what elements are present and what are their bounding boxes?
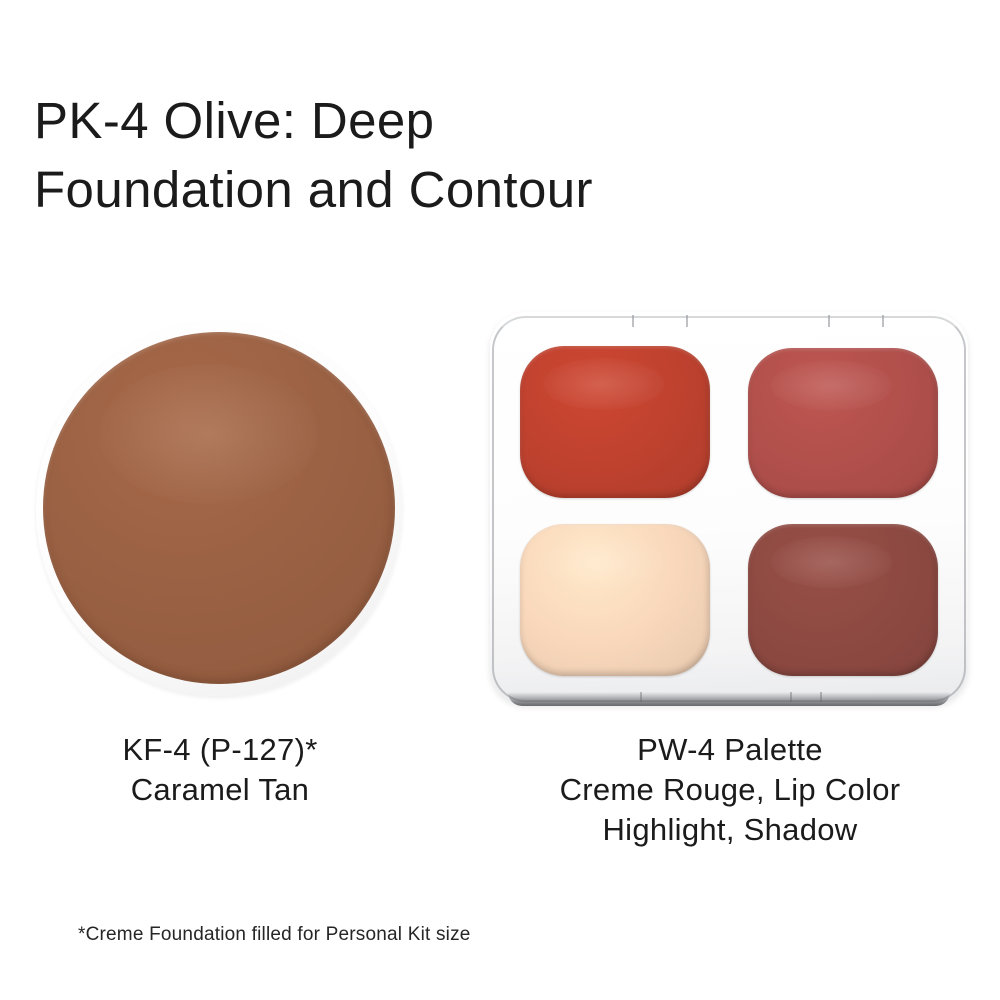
page-title: PK-4 Olive: Deep Foundation and Contour	[34, 86, 934, 224]
palette-hinge-notch	[632, 315, 634, 327]
pan-gloss	[771, 360, 893, 411]
foundation-caption-line-2: Caramel Tan	[30, 770, 410, 810]
palette-pan-creme-rouge	[520, 346, 710, 498]
palette-pan-lip-color	[748, 348, 938, 498]
palette-pan-highlight	[520, 524, 710, 676]
palette-pan-grid	[520, 346, 938, 676]
pan-gloss	[543, 536, 665, 588]
palette-caption: PW-4 Palette Creme Rouge, Lip Color High…	[480, 730, 980, 850]
foundation-product-image	[36, 322, 402, 696]
foundation-pan-caramel-tan	[43, 332, 395, 684]
palette-hinge-notch	[828, 315, 830, 327]
palette-hinge-notch	[882, 315, 884, 327]
page-title-line-1: PK-4 Olive: Deep	[34, 86, 934, 155]
foundation-sheen	[99, 364, 317, 505]
palette-hinge-notch	[686, 315, 688, 327]
palette-caption-line-2: Creme Rouge, Lip Color	[480, 770, 980, 810]
palette-base-notch	[820, 692, 822, 702]
palette-base-notch	[790, 692, 792, 702]
pan-gloss	[543, 358, 665, 410]
palette-base-notch	[640, 692, 642, 702]
palette-caption-line-1: PW-4 Palette	[480, 730, 980, 770]
foundation-caption: KF-4 (P-127)* Caramel Tan	[30, 730, 410, 810]
product-images	[0, 300, 1000, 720]
pan-gloss	[771, 536, 893, 588]
palette-product-image	[490, 312, 968, 704]
product-card: PK-4 Olive: Deep Foundation and Contour	[0, 0, 1000, 1000]
footnote: *Creme Foundation filled for Personal Ki…	[78, 922, 471, 948]
foundation-caption-line-1: KF-4 (P-127)*	[30, 730, 410, 770]
page-title-line-2: Foundation and Contour	[34, 155, 934, 224]
palette-caption-line-3: Highlight, Shadow	[480, 810, 980, 850]
palette-pan-shadow	[748, 524, 938, 676]
